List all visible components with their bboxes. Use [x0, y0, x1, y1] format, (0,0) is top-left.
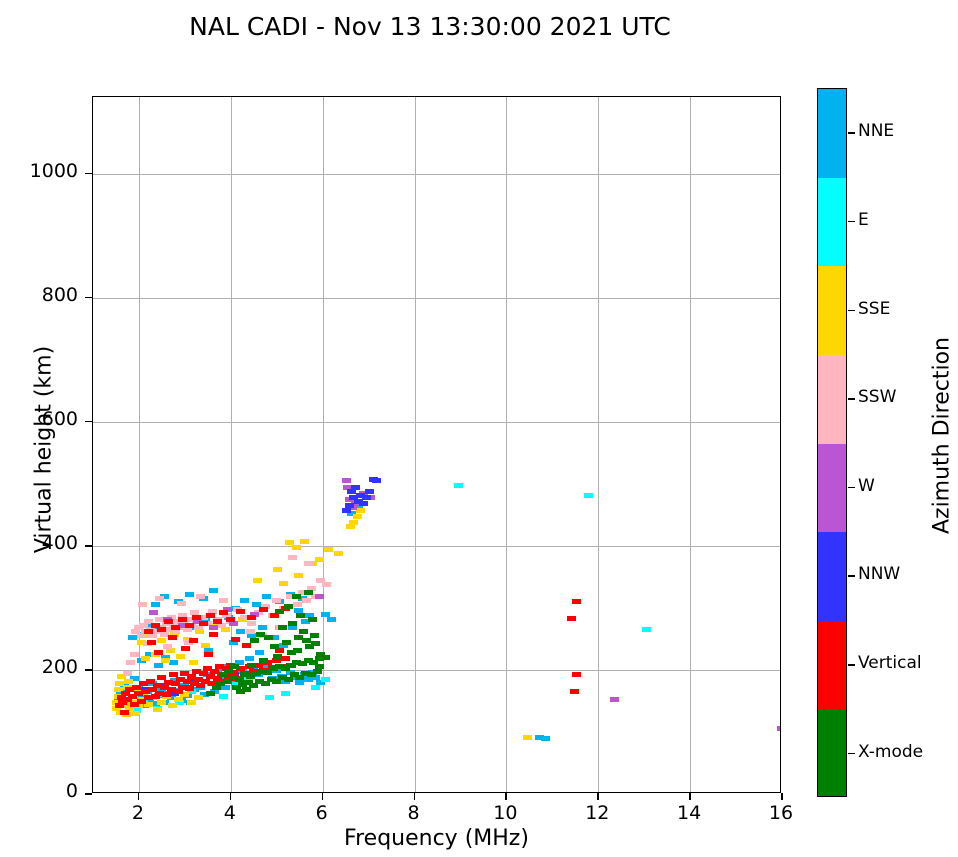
data-point	[250, 638, 259, 643]
x-tick-mark	[414, 793, 416, 800]
y-tick-mark	[85, 793, 92, 795]
data-point	[171, 625, 180, 630]
data-point	[259, 607, 268, 612]
data-point	[292, 545, 301, 550]
colorbar-tick-mark	[848, 575, 855, 577]
colorbar-segment-nnw[interactable]	[818, 532, 846, 621]
data-point	[281, 691, 290, 696]
y-tick-mark	[85, 173, 92, 175]
colorbar-tick-mark	[848, 398, 855, 400]
colorbar-label-x-mode: X-mode	[858, 742, 923, 762]
data-point	[219, 694, 228, 699]
y-tick-label: 0	[8, 780, 78, 802]
data-point	[124, 679, 133, 684]
data-point	[155, 596, 164, 601]
data-point	[185, 592, 194, 597]
data-point	[295, 680, 304, 685]
data-point	[302, 598, 311, 603]
data-point	[199, 621, 208, 626]
data-point	[201, 643, 210, 648]
colorbar-tick-mark	[848, 221, 855, 223]
colorbar-segment-nne[interactable]	[818, 89, 846, 178]
data-point	[242, 687, 251, 692]
colorbar-label-nnw: NNW	[858, 564, 900, 584]
data-point	[295, 675, 304, 680]
data-point	[315, 594, 324, 599]
data-point	[259, 658, 268, 663]
data-point	[275, 609, 284, 614]
colorbar-label-e: E	[858, 210, 869, 230]
data-point	[292, 594, 301, 599]
data-point	[296, 613, 305, 618]
data-point	[126, 660, 135, 665]
data-point	[247, 621, 256, 626]
data-point	[610, 697, 619, 702]
data-point	[365, 489, 374, 494]
colorbar-segment-w[interactable]	[818, 444, 846, 533]
data-point	[192, 615, 201, 620]
data-point	[147, 640, 156, 645]
data-point	[313, 669, 322, 674]
data-point	[138, 602, 147, 607]
figure-canvas: NAL CADI - Nov 13 13:30:00 2021 UTC 2468…	[0, 0, 958, 857]
data-point	[327, 617, 336, 622]
data-point	[294, 573, 303, 578]
data-point	[315, 557, 324, 562]
data-point	[162, 692, 171, 697]
data-point	[168, 635, 177, 640]
data-point	[240, 598, 249, 603]
data-point	[288, 621, 297, 626]
data-point	[235, 677, 244, 682]
x-tick-mark	[138, 793, 140, 800]
data-point	[284, 677, 293, 682]
data-point	[342, 508, 351, 513]
data-point	[324, 547, 333, 552]
data-point	[236, 629, 245, 634]
colorbar-label-vertical: Vertical	[858, 653, 922, 673]
data-point	[322, 582, 331, 587]
data-point	[209, 588, 218, 593]
data-point	[247, 663, 256, 668]
data-point	[311, 685, 320, 690]
data-point	[353, 514, 362, 519]
data-point	[342, 478, 351, 483]
data-point	[219, 672, 228, 677]
data-point	[151, 602, 160, 607]
colorbar-label-nne: NNE	[858, 121, 894, 141]
data-point	[219, 610, 228, 615]
data-point	[226, 617, 235, 622]
data-point	[308, 617, 317, 622]
data-point	[209, 625, 218, 630]
data-point	[245, 656, 254, 661]
data-point	[321, 655, 330, 660]
colorbar-tick-mark	[848, 132, 855, 134]
colorbar-segment-e[interactable]	[818, 178, 846, 267]
y-tick-mark	[85, 421, 92, 423]
data-point	[178, 617, 187, 622]
data-point	[183, 627, 192, 632]
data-point	[523, 735, 532, 740]
data-point	[255, 650, 264, 655]
data-point	[130, 652, 139, 657]
x-tick-mark	[322, 793, 324, 800]
data-point	[570, 689, 579, 694]
data-point	[137, 633, 146, 638]
colorbar-tick-mark	[848, 753, 855, 755]
y-tick-mark	[85, 669, 92, 671]
colorbar-label-sse: SSE	[858, 299, 890, 319]
data-point	[584, 493, 593, 498]
data-point	[141, 656, 150, 661]
data-point	[120, 710, 129, 715]
y-tick-mark	[85, 297, 92, 299]
x-tick-label: 12	[567, 802, 627, 824]
data-point	[347, 489, 356, 494]
data-point	[246, 629, 255, 634]
data-point	[288, 625, 297, 630]
colorbar-tick-mark	[848, 487, 855, 489]
data-point	[123, 671, 132, 676]
data-point	[567, 616, 576, 621]
data-point	[572, 599, 581, 604]
data-point	[153, 707, 162, 712]
data-point	[321, 677, 330, 682]
data-point	[264, 635, 273, 640]
data-point	[212, 685, 221, 690]
data-point	[213, 619, 222, 624]
data-point	[206, 691, 215, 696]
colorbar-tick-mark	[848, 664, 855, 666]
data-point	[310, 633, 319, 638]
data-point	[270, 613, 279, 618]
data-point	[270, 644, 279, 649]
data-point	[258, 625, 267, 630]
x-tick-label: 10	[475, 802, 535, 824]
data-point	[196, 683, 205, 688]
colorbar-label-ssw: SSW	[858, 387, 896, 407]
data-point	[362, 495, 371, 500]
data-point	[351, 485, 360, 490]
data-point	[261, 681, 270, 686]
chart-title: NAL CADI - Nov 13 13:30:00 2021 UTC	[0, 12, 860, 41]
data-point	[174, 697, 183, 702]
data-point	[273, 654, 282, 659]
data-point	[164, 619, 173, 624]
data-point	[541, 736, 550, 741]
data-point	[194, 695, 203, 700]
data-point	[157, 627, 166, 632]
y-tick-label: 200	[8, 656, 78, 678]
data-point	[293, 602, 302, 607]
data-point	[282, 640, 291, 645]
data-point	[163, 644, 172, 649]
data-point	[273, 567, 282, 572]
data-point	[302, 638, 311, 643]
x-tick-label: 6	[292, 802, 352, 824]
data-point	[154, 663, 163, 668]
data-point	[272, 658, 281, 663]
data-point	[300, 539, 309, 544]
data-point	[777, 726, 781, 731]
data-point	[206, 613, 215, 618]
data-point	[281, 656, 290, 661]
data-point	[176, 654, 185, 659]
data-point	[168, 703, 177, 708]
colorbar[interactable]	[817, 88, 847, 797]
data-point	[253, 578, 262, 583]
x-tick-label: 2	[108, 802, 168, 824]
data-point	[311, 641, 320, 646]
data-point	[194, 625, 203, 630]
data-point	[144, 629, 153, 634]
x-axis-label: Frequency (MHz)	[92, 826, 781, 851]
colorbar-segment-x-mode[interactable]	[818, 709, 846, 797]
data-point	[247, 615, 256, 620]
data-point	[231, 637, 240, 642]
data-point	[372, 478, 381, 483]
data-point	[161, 658, 170, 663]
data-point	[174, 689, 183, 694]
data-point	[154, 650, 163, 655]
data-point	[185, 686, 194, 691]
data-point	[148, 633, 157, 638]
data-point	[189, 660, 198, 665]
colorbar-segment-sse[interactable]	[818, 266, 846, 355]
data-point	[288, 555, 297, 560]
data-point	[230, 664, 239, 669]
x-tick-mark	[689, 793, 691, 800]
data-point	[572, 672, 581, 677]
x-tick-mark	[597, 793, 599, 800]
data-point	[356, 508, 365, 513]
data-point	[284, 604, 293, 609]
data-point	[219, 598, 228, 603]
x-tick-label: 8	[384, 802, 444, 824]
data-point	[349, 520, 358, 525]
data-point	[157, 638, 166, 643]
data-point	[304, 561, 313, 566]
data-point	[149, 610, 158, 615]
data-point	[169, 660, 178, 665]
colorbar-label-w: W	[858, 476, 875, 496]
colorbar-segment-ssw[interactable]	[818, 355, 846, 444]
data-point	[359, 501, 368, 506]
data-point	[157, 700, 166, 705]
colorbar-segment-vertical[interactable]	[818, 621, 846, 710]
data-point	[236, 609, 245, 614]
data-point	[454, 483, 463, 488]
data-point	[272, 598, 281, 603]
x-tick-label: 4	[200, 802, 260, 824]
data-point	[189, 638, 198, 643]
data-point	[221, 627, 230, 632]
data-point	[279, 581, 288, 586]
plot-area[interactable]	[92, 96, 781, 793]
data-point	[315, 664, 324, 669]
data-point	[304, 590, 313, 595]
colorbar-tick-mark	[848, 310, 855, 312]
y-tick-mark	[85, 545, 92, 547]
data-point	[278, 625, 287, 630]
data-point	[204, 652, 213, 657]
data-point	[242, 643, 251, 648]
data-point	[334, 551, 343, 556]
data-point	[185, 623, 194, 628]
x-tick-mark	[230, 793, 232, 800]
data-points-layer	[93, 97, 780, 792]
colorbar-label: Azimuth Direction	[930, 286, 955, 586]
x-tick-label: 14	[659, 802, 719, 824]
data-point	[209, 632, 218, 637]
data-point	[293, 648, 302, 653]
x-tick-label: 16	[751, 802, 811, 824]
data-point	[229, 621, 238, 626]
data-point	[262, 594, 271, 599]
data-point	[131, 711, 140, 716]
data-point	[642, 627, 651, 632]
x-tick-mark	[781, 793, 783, 800]
y-tick-label: 1000	[8, 160, 78, 182]
data-point	[181, 646, 190, 651]
data-point	[177, 601, 186, 606]
data-point	[299, 629, 308, 634]
data-point	[128, 635, 137, 640]
data-point	[265, 695, 274, 700]
data-point	[187, 700, 196, 705]
x-tick-mark	[505, 793, 507, 800]
data-point	[196, 594, 205, 599]
y-axis-label: Virtual height (km)	[32, 255, 57, 645]
